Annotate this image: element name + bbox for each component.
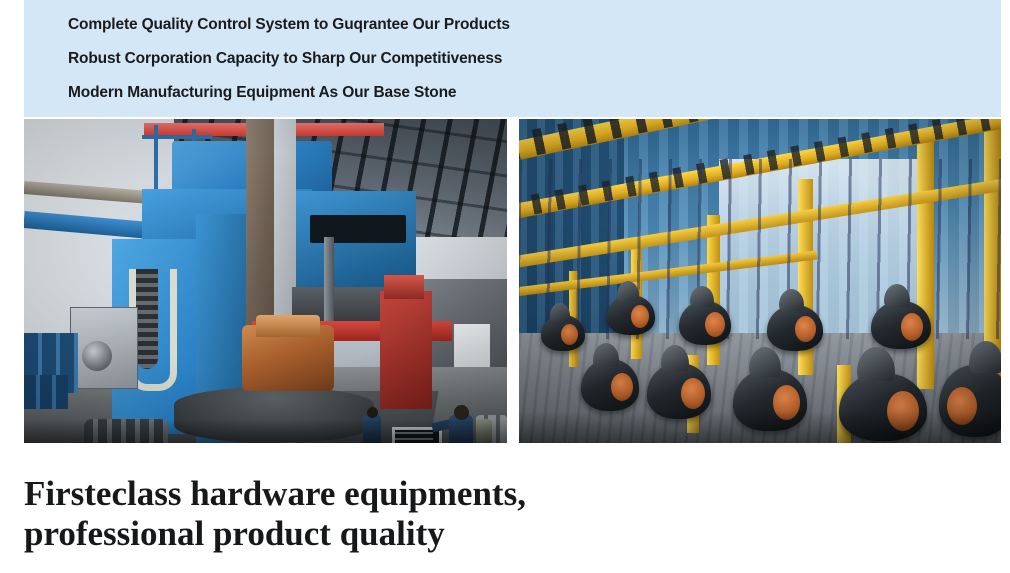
slide-root: Complete Quality Control System to Guqra… — [0, 0, 1010, 573]
valve-paint-line-photo — [519, 119, 1001, 443]
header-line-3: Modern Manufacturing Equipment As Our Ba… — [68, 76, 948, 110]
header-line-2: Robust Corporation Capacity to Sharp Our… — [68, 42, 948, 76]
header-banner: Complete Quality Control System to Guqra… — [24, 0, 1001, 117]
header-bullet-list: Complete Quality Control System to Guqra… — [68, 8, 948, 110]
photo-vignette — [24, 119, 507, 443]
slide-headline: Firsteclass hardware equipments, profess… — [24, 474, 784, 554]
header-line-1: Complete Quality Control System to Guqra… — [68, 8, 948, 42]
headline-line-1: Firsteclass hardware equipments, — [24, 474, 784, 514]
machine-shop-photo — [24, 119, 507, 443]
photo-gallery — [0, 119, 1010, 443]
headline-line-2: professional product quality — [24, 514, 784, 554]
photo-vignette — [519, 119, 1001, 443]
